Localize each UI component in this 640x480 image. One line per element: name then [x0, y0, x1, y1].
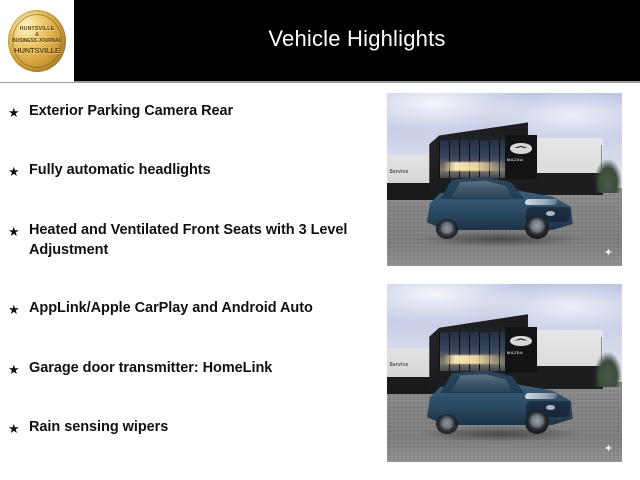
mazda-wordmark: MAZDA	[507, 350, 523, 355]
award-seal-icon: HUNTSVILLE & BUSINESS JOURNAL HUNTSVILLE	[8, 10, 66, 72]
highlight-text: Fully automatic headlights	[29, 161, 211, 181]
sparkle-watermark-icon: ✦	[603, 444, 614, 455]
highlight-text: Rain sensing wipers	[29, 418, 168, 438]
vehicle	[427, 171, 573, 240]
vehicle	[427, 364, 573, 435]
vehicle-front-wheel	[525, 410, 550, 434]
seal-banner: HUNTSVILLE	[10, 47, 64, 55]
list-item: ★ Heated and Ventilated Front Seats with…	[0, 221, 378, 260]
mazda-logo-icon	[510, 143, 531, 153]
highlight-text: Garage door transmitter: HomeLink	[29, 359, 272, 379]
highlight-text: Exterior Parking Camera Rear	[29, 102, 233, 122]
vehicle-front-wheel	[525, 215, 550, 239]
showroom-interior-glow	[443, 355, 504, 364]
star-bullet-icon: ★	[8, 418, 29, 438]
background-trees	[594, 352, 622, 388]
vehicle-headlight	[524, 393, 557, 399]
sparkle-watermark-icon: ✦	[603, 248, 614, 259]
header-divider	[0, 81, 640, 83]
list-item: ★ Rain sensing wipers	[0, 418, 378, 438]
vehicle-rear-wheel	[436, 219, 458, 238]
background-trees	[594, 159, 622, 194]
dealership-service-label: Service	[389, 362, 408, 368]
list-item: ★ Garage door transmitter: HomeLink	[0, 359, 378, 379]
seal-text: HUNTSVILLE & BUSINESS JOURNAL HUNTSVILLE	[10, 27, 64, 55]
vehicle-emblem-icon	[546, 211, 555, 216]
star-bullet-icon: ★	[8, 221, 29, 241]
highlight-text: AppLink/Apple CarPlay and Android Auto	[29, 299, 313, 319]
vehicle-headlight	[524, 199, 557, 205]
seal-line-2: BUSINESS JOURNAL	[10, 39, 64, 44]
vehicle-photo-front-three-quarter-1[interactable]: Service MAZDA ✦	[387, 93, 622, 266]
mazda-logo-icon	[510, 336, 531, 347]
vehicle-photo-front-three-quarter-2[interactable]: Service MAZDA ✦	[387, 284, 622, 462]
vehicle-rear-wheel	[436, 414, 458, 434]
dealership-service-label: Service	[389, 169, 408, 175]
mazda-wordmark: MAZDA	[507, 157, 523, 162]
page-title: Vehicle Highlights	[74, 0, 640, 81]
showroom-interior-glow	[443, 162, 504, 171]
highlight-text: Heated and Ventilated Front Seats with 3…	[29, 221, 359, 260]
brand-logo: HUNTSVILLE & BUSINESS JOURNAL HUNTSVILLE	[0, 0, 74, 82]
list-item: ★ Fully automatic headlights	[0, 161, 378, 181]
highlights-list: ★ Exterior Parking Camera Rear ★ Fully a…	[0, 88, 378, 438]
star-bullet-icon: ★	[8, 299, 29, 319]
list-item: ★ Exterior Parking Camera Rear	[0, 102, 378, 122]
star-bullet-icon: ★	[8, 102, 29, 122]
list-item: ★ AppLink/Apple CarPlay and Android Auto	[0, 299, 378, 319]
star-bullet-icon: ★	[8, 359, 29, 379]
star-bullet-icon: ★	[8, 161, 29, 181]
